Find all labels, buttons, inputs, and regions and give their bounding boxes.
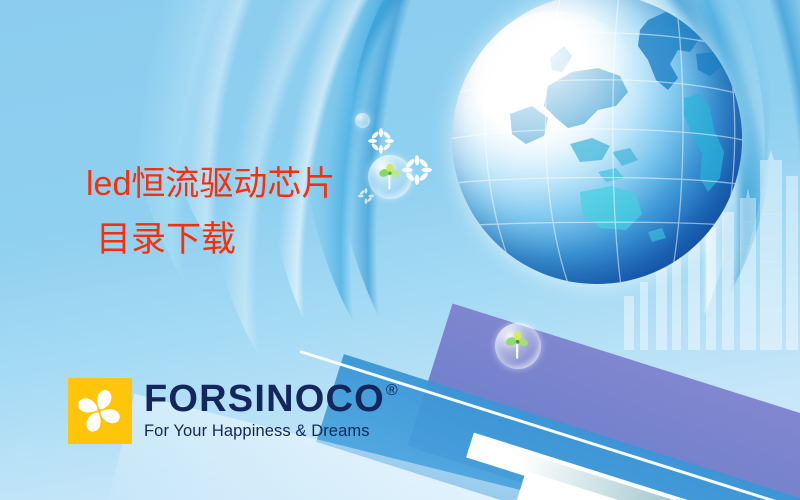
page-title: led恒流驱动芯片 目录下载 [86, 164, 516, 262]
logo-text-block: FORSINOCO ® For Your Happiness & Dreams [144, 378, 398, 441]
logo-wordmark: FORSINOCO ® [144, 380, 398, 418]
logo-tagline: For Your Happiness & Dreams [144, 421, 398, 441]
four-petal-pinwheel-icon [68, 378, 132, 444]
logo-wordmark-text: FORSINOCO [144, 380, 385, 418]
promotional-banner: led恒流驱动芯片 目录下载 FORSINOCO ® For Your Happ… [0, 0, 800, 500]
headline-line-2: 目录下载 [96, 218, 516, 262]
headline-line-1: led恒流驱动芯片 [86, 164, 516, 204]
starburst-flower-icon [368, 128, 394, 154]
globe-highlight [475, 11, 637, 144]
bubble-small-icon [355, 113, 370, 128]
bubble-with-pinwheel-icon [495, 323, 541, 369]
company-logo: FORSINOCO ® For Your Happiness & Dreams [68, 378, 398, 444]
registered-trademark-symbol: ® [386, 383, 398, 399]
